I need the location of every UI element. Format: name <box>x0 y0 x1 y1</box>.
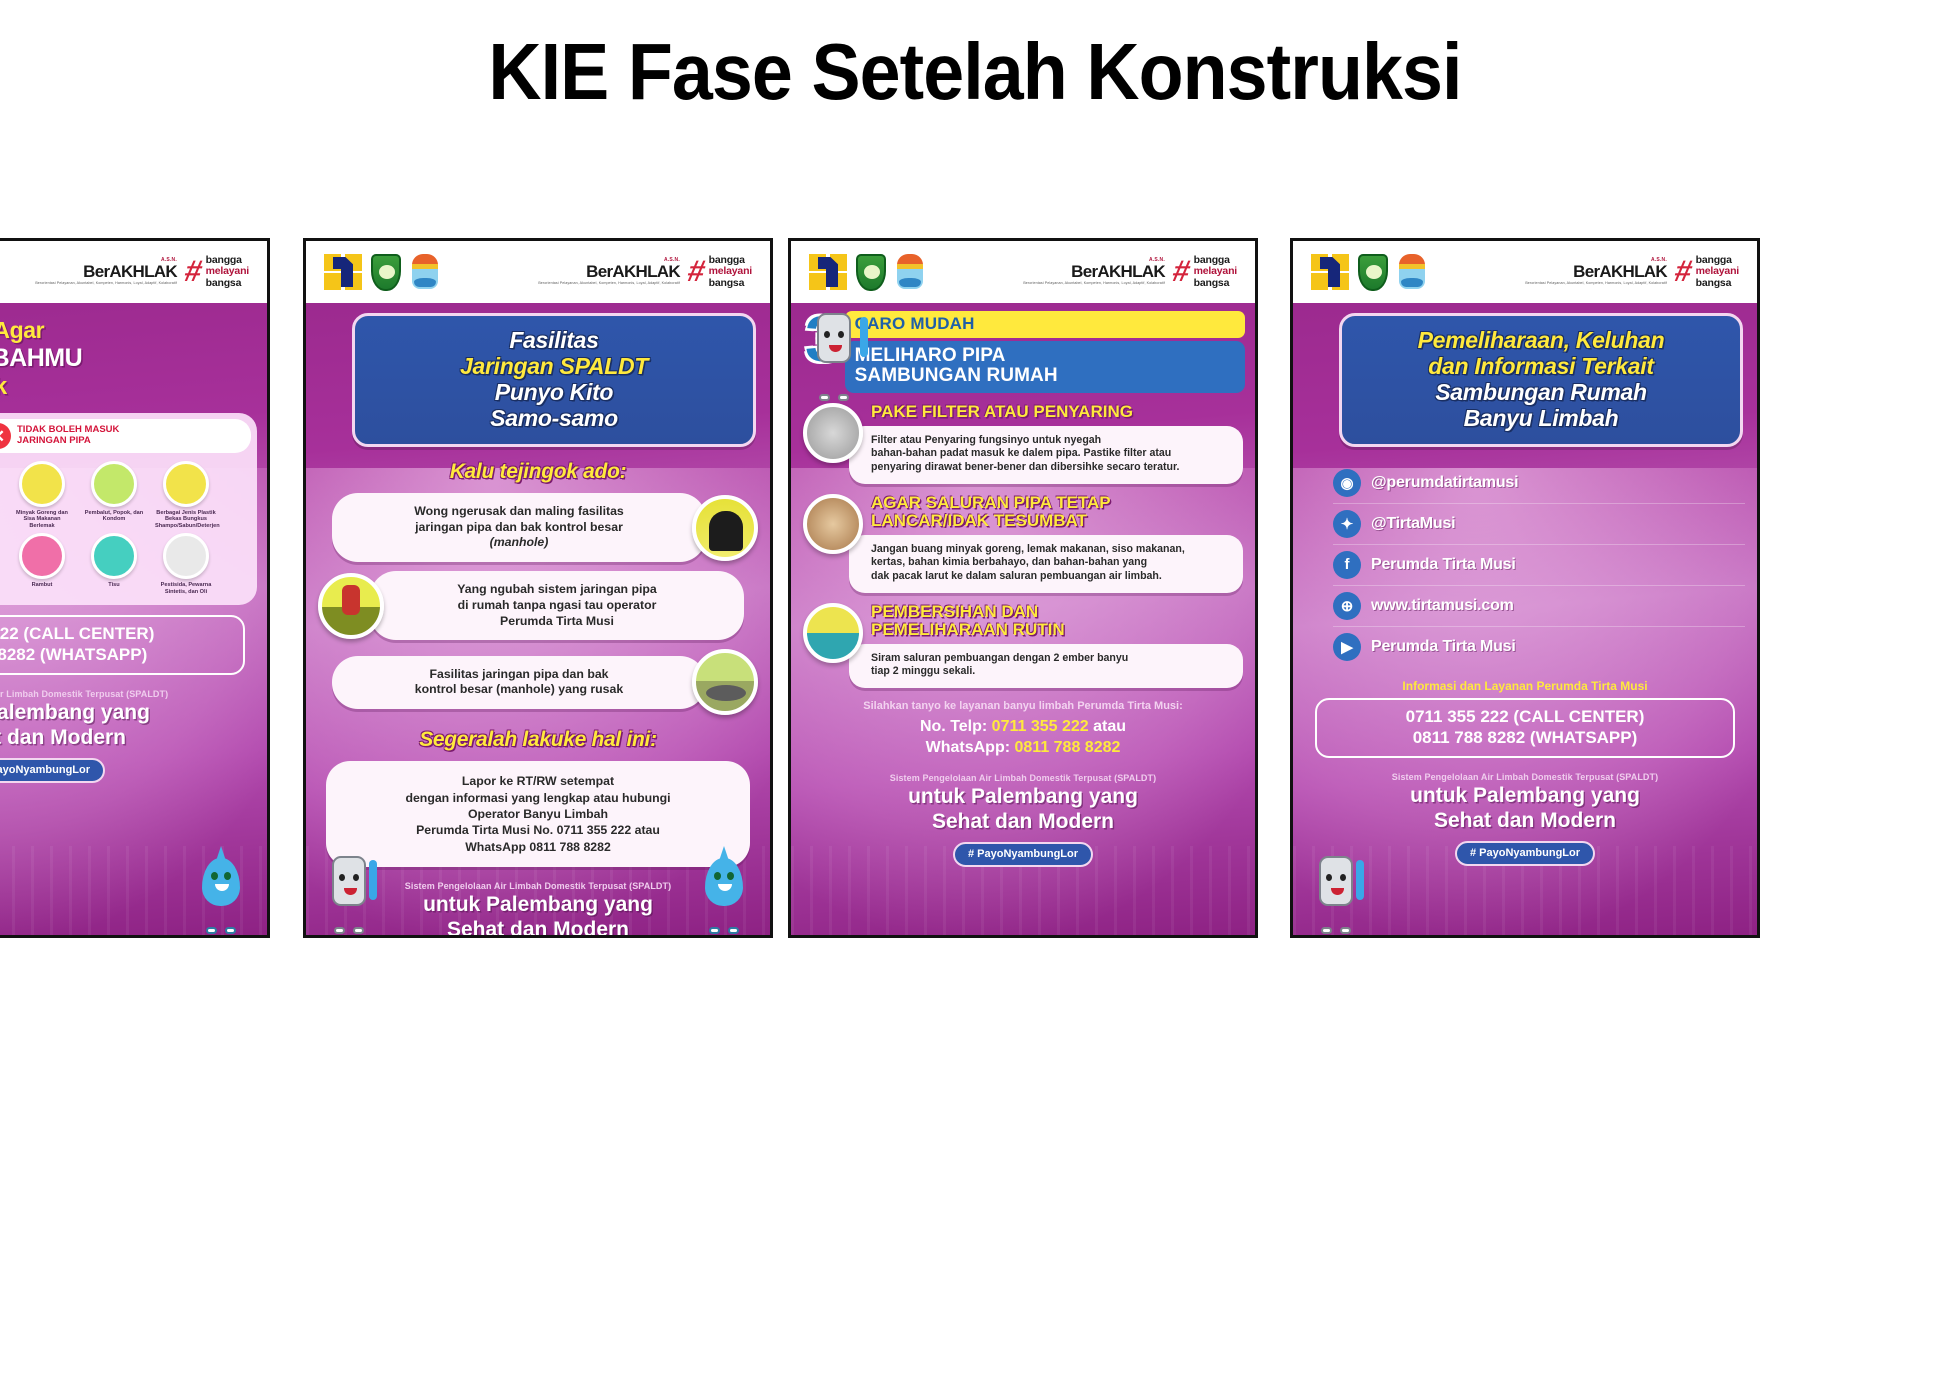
item-text: Siram saluran pembuangan dengan 2 ember … <box>849 644 1243 689</box>
list-item: AGAR SALURAN PIPA TETAP LANCAR/IDAK TESU… <box>803 494 1243 593</box>
palembang-city-logo-icon <box>410 254 440 291</box>
poster-3-body: 3 CARO MUDAH MELIHARO PIPA SAMBUNGAN RUM… <box>791 303 1255 938</box>
poster-3-contact: No. Telp: 0711 355 222 atau WhatsApp: 08… <box>791 717 1255 759</box>
list-item: Wong ngerusak dan maling fasilitas jarin… <box>332 493 758 562</box>
poster-4-headline-banner: Pemeliharaan, Keluhan dan Informasi Terk… <box>1339 313 1743 447</box>
website-icon: ⊕ <box>1333 592 1361 620</box>
buckets-icon <box>803 603 863 663</box>
item-text: Jangan buang minyak goreng, lemak makana… <box>849 535 1243 593</box>
item-text: Filter atau Penyaring fungsinyo untuk ny… <box>849 426 1243 484</box>
pipe-mascot-icon <box>1311 848 1365 934</box>
poster-header-logos: A.S.N. BerAKHLAK Berorientasi Pelayanan,… <box>1293 241 1757 303</box>
poster-card-4[interactable]: A.S.N. BerAKHLAK Berorientasi Pelayanan,… <box>1290 238 1760 938</box>
list-item: Berbagai Jenis Plastik Bekas Bungkus Sha… <box>155 461 217 529</box>
agency-logos <box>324 254 440 291</box>
list-item: Yang ngubah sistem jaringan pipa di ruma… <box>318 571 744 640</box>
brand-logos: A.S.N. BerAKHLAK Berorientasi Pelayanan,… <box>1525 255 1739 289</box>
bangga-melayani-bangsa-logo-icon: # bangga melayani bangsa <box>688 255 752 289</box>
campaign-hashtag: # PayoNyambungLor <box>953 842 1093 867</box>
poster-gallery: A.S.N. BerAKHLAK Berorientasi Pelayanan,… <box>0 238 1950 938</box>
poster-card-1[interactable]: A.S.N. BerAKHLAK Berorientasi Pelayanan,… <box>0 238 270 938</box>
poster-1-headline: Perhatikan Ini Agar PIPA AIR LIMBAHMU Be… <box>0 303 267 401</box>
palembang-city-logo-icon <box>895 254 925 291</box>
water-drop-mascot-icon <box>698 848 752 934</box>
poster-2-action-title: Segeralah lakuke hal ini: <box>306 728 770 752</box>
brand-logos: A.S.N. BerAKHLAK Berorientasi Pelayanan,… <box>538 255 752 289</box>
forbidden-column: ✕ TIDAK BOLEH MASUK JARINGAN PIPA Minyak… <box>0 413 257 605</box>
hair-icon <box>19 533 65 579</box>
poster-1-contact-box: 0711 355 222 (CALL CENTER) 0811 788 8282… <box>0 615 245 675</box>
cooking-oil-icon <box>19 461 65 507</box>
berakhlak-logo-icon: A.S.N. BerAKHLAK Berorientasi Pelayanan,… <box>1023 258 1165 286</box>
poster-4-info-heading: Informasi dan Layanan Perumda Tirta Musi <box>1293 679 1757 693</box>
list-item[interactable]: ▶ Perumda Tirta Musi <box>1333 626 1745 667</box>
campaign-hashtag: # PayoNyambungLor <box>0 758 105 783</box>
palembang-city-logo-icon <box>1397 254 1427 291</box>
list-item: Pestisida, Pewarna Sintetis, dan Oli <box>155 533 217 595</box>
worker-icon <box>318 573 384 639</box>
list-item: Tisu <box>83 533 145 595</box>
brand-logos: A.S.N. BerAKHLAK Berorientasi Pelayanan,… <box>35 255 249 289</box>
poster-3-ask-text: Silahkan tanyo ke layanan banyu limbah P… <box>791 700 1255 712</box>
province-shield-logo-icon <box>371 254 401 291</box>
poster-1-columns: ✓ BOLEH MASUK JARINGAN PIPA Air Bekas Ma… <box>0 413 257 605</box>
berakhlak-logo-icon: A.S.N. BerAKHLAK Berorientasi Pelayanan,… <box>538 258 680 286</box>
item-text: Yang ngubah sistem jaringan pipa di ruma… <box>370 571 744 640</box>
list-item[interactable]: ✦ @TirtaMusi <box>1333 503 1745 544</box>
province-shield-logo-icon <box>856 254 886 291</box>
thief-icon <box>692 495 758 561</box>
list-item[interactable]: ⊕ www.tirtamusi.com <box>1333 585 1745 626</box>
poster-1-body: Perhatikan Ini Agar PIPA AIR LIMBAHMU Be… <box>0 303 267 938</box>
tissue-icon <box>91 533 137 579</box>
bangga-melayani-bangsa-logo-icon: # bangga melayani bangsa <box>1675 255 1739 289</box>
poster-header-logos: A.S.N. BerAKHLAK Berorientasi Pelayanan,… <box>0 241 267 303</box>
berakhlak-logo-icon: A.S.N. BerAKHLAK Berorientasi Pelayanan,… <box>35 258 177 286</box>
pipe-mascot-icon <box>809 305 869 401</box>
list-item: PEMBERSIHAN DAN PEMELIHARAAN RUTIN Siram… <box>803 603 1243 688</box>
poster-2-section-title: Kalu tejingok ado: <box>306 460 770 484</box>
forbidden-icon-grid: Minyak Goreng dan Sisa Makanan Berlemak … <box>0 461 251 595</box>
pu-ministry-logo-icon <box>324 254 362 290</box>
twitter-icon: ✦ <box>1333 510 1361 538</box>
campaign-hashtag: # PayoNyambungLor <box>1455 841 1595 866</box>
poster-2-headline-banner: Fasilitas Jaringan SPALDT Punyo Kito Sam… <box>352 313 756 447</box>
poster-1-footer: Sistem Pengelolaan Air Limbah Domestik T… <box>0 689 267 783</box>
drain-filter-icon <box>803 403 863 463</box>
poster-4-contact-box: 0711 355 222 (CALL CENTER) 0811 788 8282… <box>1315 698 1735 758</box>
poster-card-2[interactable]: A.S.N. BerAKHLAK Berorientasi Pelayanan,… <box>303 238 773 938</box>
pesticide-oil-icon <box>163 533 209 579</box>
poster-3-headline: 3 CARO MUDAH MELIHARO PIPA SAMBUNGAN RUM… <box>805 311 1245 393</box>
list-item: Minyak Goreng dan Sisa Makanan Berlemak <box>11 461 73 529</box>
water-drop-mascot-icon <box>195 848 249 934</box>
poster-3-footer: Sistem Pengelolaan Air Limbah Domestik T… <box>791 773 1255 867</box>
list-item: Rambut <box>11 533 73 595</box>
forbidden-tag: ✕ TIDAK BOLEH MASUK JARINGAN PIPA <box>0 419 251 453</box>
close-icon: ✕ <box>0 423 11 449</box>
list-item: PAKE FILTER ATAU PENYARING Filter atau P… <box>803 403 1243 484</box>
sanitary-pad-icon <box>91 461 137 507</box>
poster-header-logos: A.S.N. BerAKHLAK Berorientasi Pelayanan,… <box>791 241 1255 303</box>
berakhlak-logo-icon: A.S.N. BerAKHLAK Berorientasi Pelayanan,… <box>1525 258 1667 286</box>
social-links-list: ◉ @perumdatirtamusi ✦ @TirtaMusi f Perum… <box>1333 463 1745 667</box>
poster-2-action-box: Lapor ke RT/RW setempat dengan informasi… <box>326 761 750 867</box>
poster-4-body: Pemeliharaan, Keluhan dan Informasi Terk… <box>1293 303 1757 938</box>
facebook-icon: f <box>1333 551 1361 579</box>
manhole-icon <box>692 649 758 715</box>
list-item[interactable]: ◉ @perumdatirtamusi <box>1333 463 1745 503</box>
agency-logos <box>809 254 925 291</box>
poster-card-3[interactable]: A.S.N. BerAKHLAK Berorientasi Pelayanan,… <box>788 238 1258 938</box>
agency-logos <box>1311 254 1427 291</box>
list-item: Fasilitas jaringan pipa dan bak kontrol … <box>332 649 758 715</box>
slide-canvas: KIE Fase Setelah Konstruksi A.S.N. BerAK… <box>0 0 1950 1388</box>
list-item: Pembalut, Popok, dan Kondom <box>83 461 145 529</box>
pu-ministry-logo-icon <box>809 254 847 290</box>
item-text: Fasilitas jaringan pipa dan bak kontrol … <box>332 656 706 709</box>
page-title: KIE Fase Setelah Konstruksi <box>78 26 1872 118</box>
brand-logos: A.S.N. BerAKHLAK Berorientasi Pelayanan,… <box>1023 255 1237 289</box>
poster-header-logos: A.S.N. BerAKHLAK Berorientasi Pelayanan,… <box>306 241 770 303</box>
poster-2-body: Fasilitas Jaringan SPALDT Punyo Kito Sam… <box>306 303 770 938</box>
bangga-melayani-bangsa-logo-icon: # bangga melayani bangsa <box>1173 255 1237 289</box>
province-shield-logo-icon <box>1358 254 1388 291</box>
pipe-mascot-icon <box>324 848 378 934</box>
list-item[interactable]: f Perumda Tirta Musi <box>1333 544 1745 585</box>
plastic-waste-icon <box>163 461 209 507</box>
pu-ministry-logo-icon <box>1311 254 1349 290</box>
bangga-melayani-bangsa-logo-icon: # bangga melayani bangsa <box>185 255 249 289</box>
waste-pile-icon <box>803 494 863 554</box>
instagram-icon: ◉ <box>1333 469 1361 497</box>
item-text: Wong ngerusak dan maling fasilitas jarin… <box>332 493 706 562</box>
youtube-icon: ▶ <box>1333 633 1361 661</box>
